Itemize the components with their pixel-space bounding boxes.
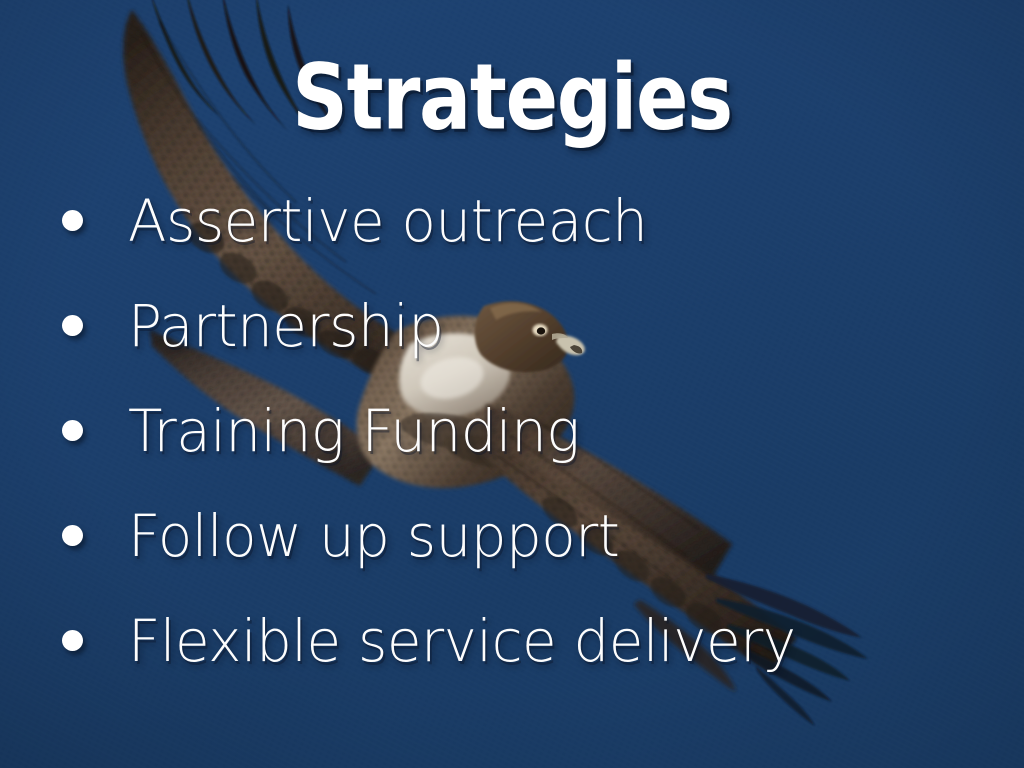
bullet-dot-icon (62, 315, 83, 336)
list-item: Assertive outreach (62, 168, 1012, 273)
bullet-dot-icon (62, 630, 83, 651)
bullet-list: Assertive outreach Partnership Training … (62, 168, 1012, 693)
list-item: Partnership (62, 273, 1012, 378)
slide-title: Strategies (51, 52, 973, 143)
bullet-label: Follow up support (128, 507, 619, 565)
list-item: Training Funding (62, 378, 1012, 483)
presentation-slide: Strategies Assertive outreach Partnershi… (0, 0, 1024, 768)
bullet-label: Training Funding (128, 402, 580, 460)
bullet-label: Assertive outreach (128, 192, 647, 250)
list-item: Follow up support (62, 483, 1012, 588)
bullet-label: Partnership (128, 297, 443, 355)
list-item: Flexible service delivery (62, 588, 1012, 693)
bullet-label: Flexible service delivery (128, 612, 796, 670)
bullet-dot-icon (62, 420, 83, 441)
bullet-dot-icon (62, 525, 83, 546)
bullet-dot-icon (62, 210, 83, 231)
